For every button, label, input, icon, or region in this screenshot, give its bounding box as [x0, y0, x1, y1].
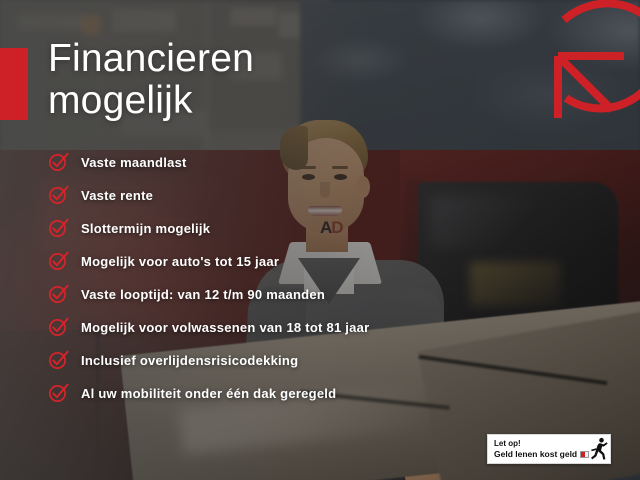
financing-banner: AD Financieren mogelijk: [0, 0, 640, 480]
check-circle-icon: [48, 185, 70, 205]
check-circle-icon: [48, 350, 70, 370]
status-badge: Let op! Geld lenen kost geld: [487, 434, 611, 464]
badge-line-2-text: Geld lenen kost geld: [494, 449, 577, 459]
list-item: Vaste maandlast: [48, 152, 369, 172]
red-accent-block: [0, 48, 28, 120]
badge-text: Let op! Geld lenen kost geld: [494, 438, 589, 460]
check-circle-icon: [48, 251, 70, 271]
list-item: Vaste rente: [48, 185, 369, 205]
check-circle-icon: [48, 218, 70, 238]
check-circle-icon: [48, 152, 70, 172]
list-item-label: Vaste looptijd: van 12 t/m 90 maanden: [81, 287, 325, 302]
list-item-label: Mogelijk voor auto's tot 15 jaar: [81, 254, 279, 269]
list-item-label: Mogelijk voor volwassenen van 18 tot 81 …: [81, 320, 369, 335]
check-circle-icon: [48, 284, 70, 304]
list-item-label: Al uw mobiliteit onder één dak geregeld: [81, 386, 336, 401]
nl-flag-icon: [580, 451, 589, 458]
list-item: Vaste looptijd: van 12 t/m 90 maanden: [48, 284, 369, 304]
check-circle-icon: [48, 383, 70, 403]
list-item-label: Vaste rente: [81, 188, 153, 203]
list-item-label: Vaste maandlast: [81, 155, 187, 170]
list-item: Slottermijn mogelijk: [48, 218, 369, 238]
red-arc-arrow-graphic: [536, 0, 640, 118]
running-man-icon: [589, 437, 609, 461]
list-item: Mogelijk voor volwassenen van 18 tot 81 …: [48, 317, 369, 337]
arc-arrow-icon: [536, 0, 640, 118]
list-item-label: Slottermijn mogelijk: [81, 221, 210, 236]
badge-line-2: Geld lenen kost geld: [494, 449, 589, 460]
list-item: Inclusief overlijdensrisicodekking: [48, 350, 369, 370]
list-item: Al uw mobiliteit onder één dak geregeld: [48, 383, 369, 403]
list-item-label: Inclusief overlijdensrisicodekking: [81, 353, 298, 368]
check-circle-icon: [48, 317, 70, 337]
feature-list: Vaste maandlast Vaste rente Slottermijn …: [48, 152, 369, 403]
page-title: Financieren mogelijk: [48, 38, 254, 122]
badge-line-1: Let op!: [494, 438, 589, 449]
list-item: Mogelijk voor auto's tot 15 jaar: [48, 251, 369, 271]
